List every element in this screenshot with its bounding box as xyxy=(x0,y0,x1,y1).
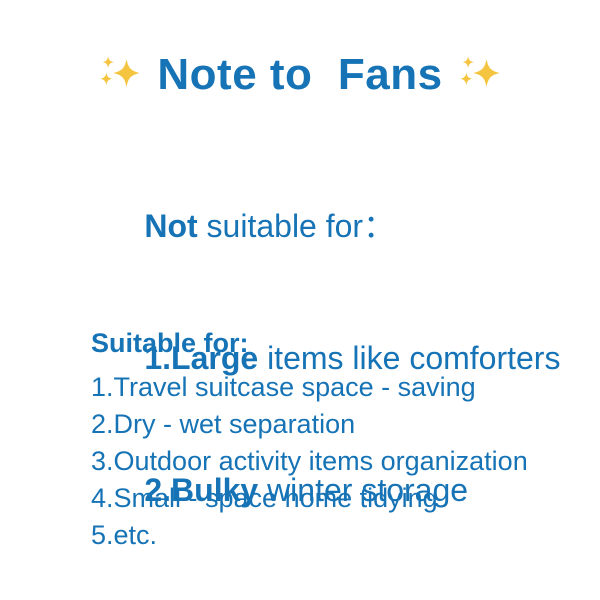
not-suitable-heading: Not suitable for： xyxy=(91,160,581,292)
suitable-item: 3.Outdoor activity items organization xyxy=(91,443,581,480)
suitable-item: 1.Travel suitcase space - saving xyxy=(91,369,581,406)
page-title: Note to Fans xyxy=(157,53,442,97)
suitable-heading: Suitable for: xyxy=(91,326,581,360)
suitable-item: 4.Small - space home tidying xyxy=(91,480,581,517)
sparkles-icon-right xyxy=(457,52,503,98)
suitable-section: Suitable for: 1.Travel suitcase space - … xyxy=(91,326,581,554)
not-suitable-heading-emphasis: Not xyxy=(144,208,197,244)
suitable-item: 2.Dry - wet separation xyxy=(91,406,581,443)
not-suitable-heading-rest: suitable for： xyxy=(198,208,395,244)
sparkles-icon-left xyxy=(97,52,143,98)
page-title-row: Note to Fans xyxy=(0,44,600,106)
suitable-item: 5.etc. xyxy=(91,517,581,554)
note-to-fans-card: Note to Fans Not suitable for： 1.Large i… xyxy=(0,0,600,600)
